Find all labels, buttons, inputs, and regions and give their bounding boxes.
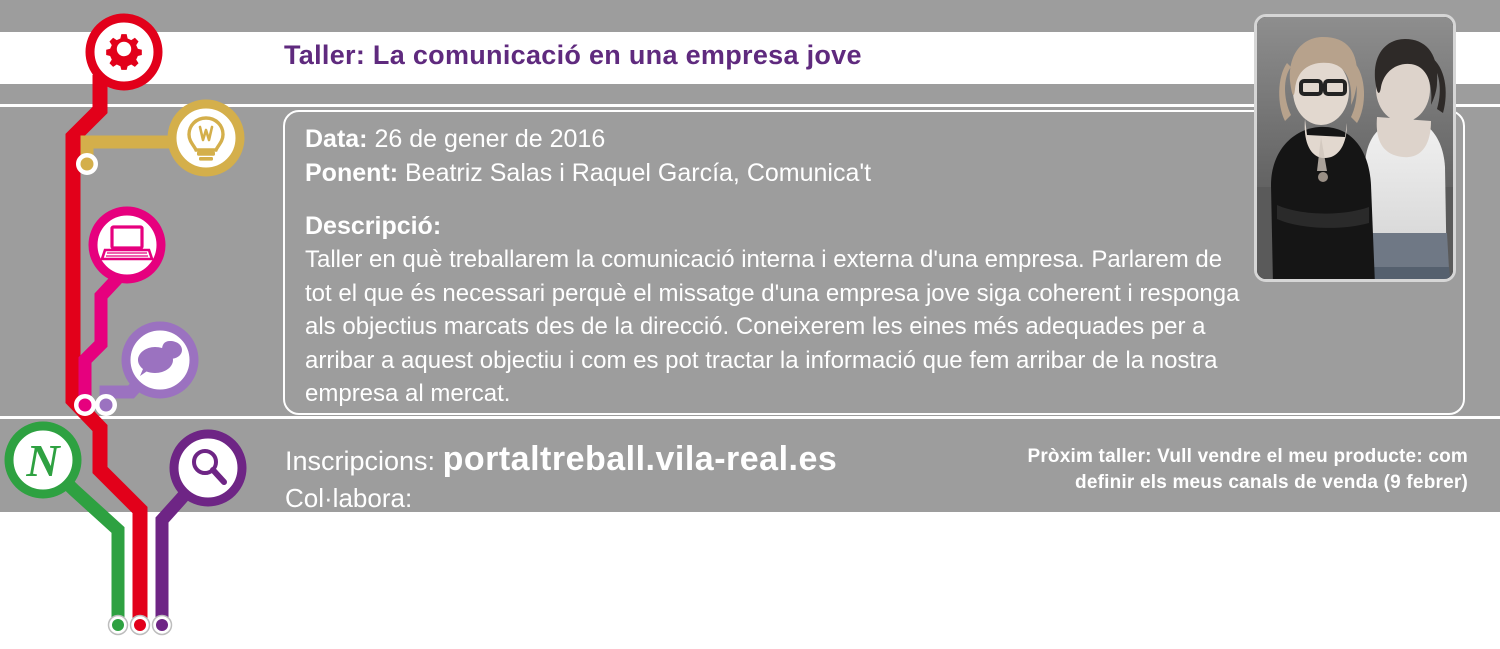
- description-body: Taller en què treballarem la comunicació…: [305, 243, 1255, 411]
- speakers-photo-illustration: [1257, 17, 1456, 282]
- poster-canvas: N Taller: La comunicació en una empresa …: [0, 0, 1500, 649]
- registration-label: Inscripcions:: [285, 446, 443, 476]
- registration-url[interactable]: portaltreball.vila-real.es: [443, 440, 838, 478]
- letter-n-icon: N: [25, 435, 61, 486]
- laptop-station: [93, 211, 161, 279]
- date-label: Data:: [305, 125, 368, 153]
- collaborate-label: Col·labora:: [285, 483, 412, 514]
- gear-icon: [106, 34, 142, 70]
- speakers-photo: [1254, 14, 1456, 282]
- gold-minor-dot: [81, 158, 94, 171]
- next-workshop-line-2: definir els meus canals de venda (9 febr…: [1027, 470, 1468, 496]
- violet-minor-dot: [100, 399, 113, 412]
- speaker-value: Beatriz Salas i Raquel García, Comunica'…: [398, 159, 871, 187]
- next-workshop-line-1: Pròxim taller: Vull vendre el meu produc…: [1027, 444, 1468, 470]
- next-workshop-note: Pròxim taller: Vull vendre el meu produc…: [1027, 444, 1468, 496]
- n-logo-station: N: [9, 426, 77, 494]
- magenta-minor-dot: [79, 399, 92, 412]
- date-value: 26 de gener de 2016: [368, 125, 606, 153]
- registration-line: Inscripcions: portaltreball.vila-real.es: [285, 440, 837, 479]
- speaker-label: Ponent:: [305, 159, 398, 187]
- lightbulb-station: [172, 104, 240, 172]
- gear-station: [90, 18, 158, 86]
- page-title: Taller: La comunicació en una empresa jo…: [284, 40, 862, 71]
- magnifier-station: [174, 434, 242, 502]
- speech-bubbles-station: [126, 326, 194, 394]
- partner-logos: Ajuntament de Vila-real Economia: [0, 512, 1500, 649]
